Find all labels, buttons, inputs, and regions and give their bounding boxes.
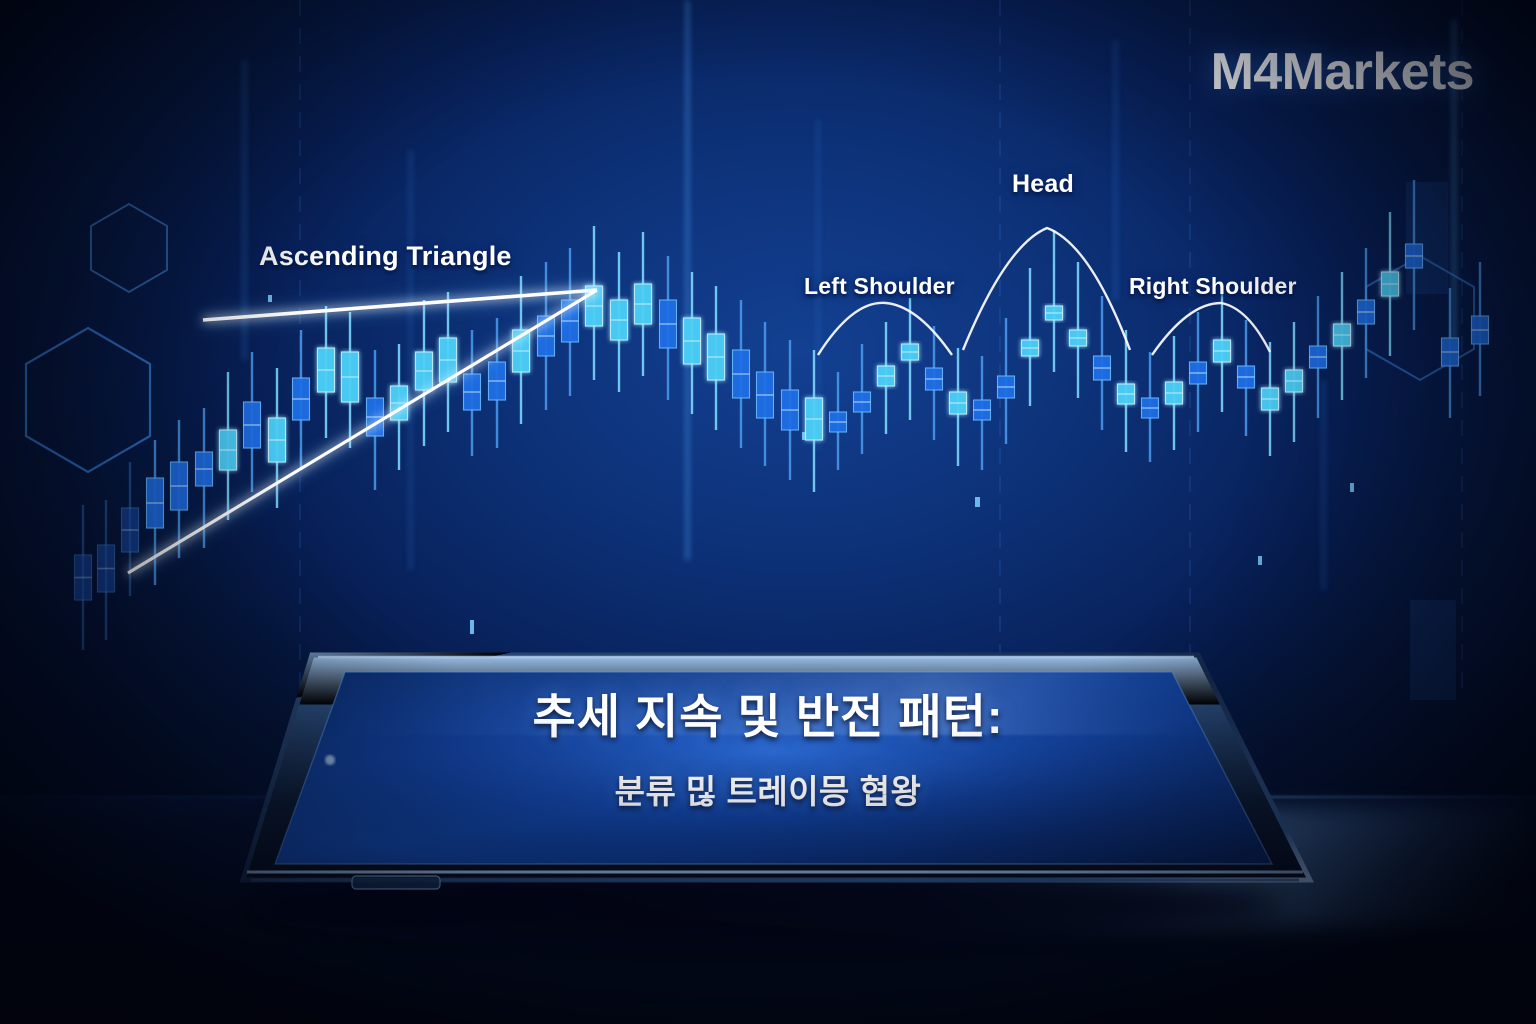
screen-flare bbox=[325, 755, 335, 765]
tablet-device[interactable] bbox=[0, 0, 1536, 1024]
tablet-title-line2: 분류 믾 트레이믕 협왕 bbox=[438, 765, 1098, 813]
tablet-title-line1: 추세 지속 및 반전 패턴: bbox=[438, 692, 1098, 743]
tablet-port[interactable] bbox=[352, 876, 440, 889]
promo-banner: Ascending Triangle Head Left Shoulder Ri… bbox=[0, 0, 1536, 1024]
tablet-title-block: 추세 지속 및 반전 패턴: 분류 믾 트레이믕 협왕 bbox=[438, 692, 1098, 813]
